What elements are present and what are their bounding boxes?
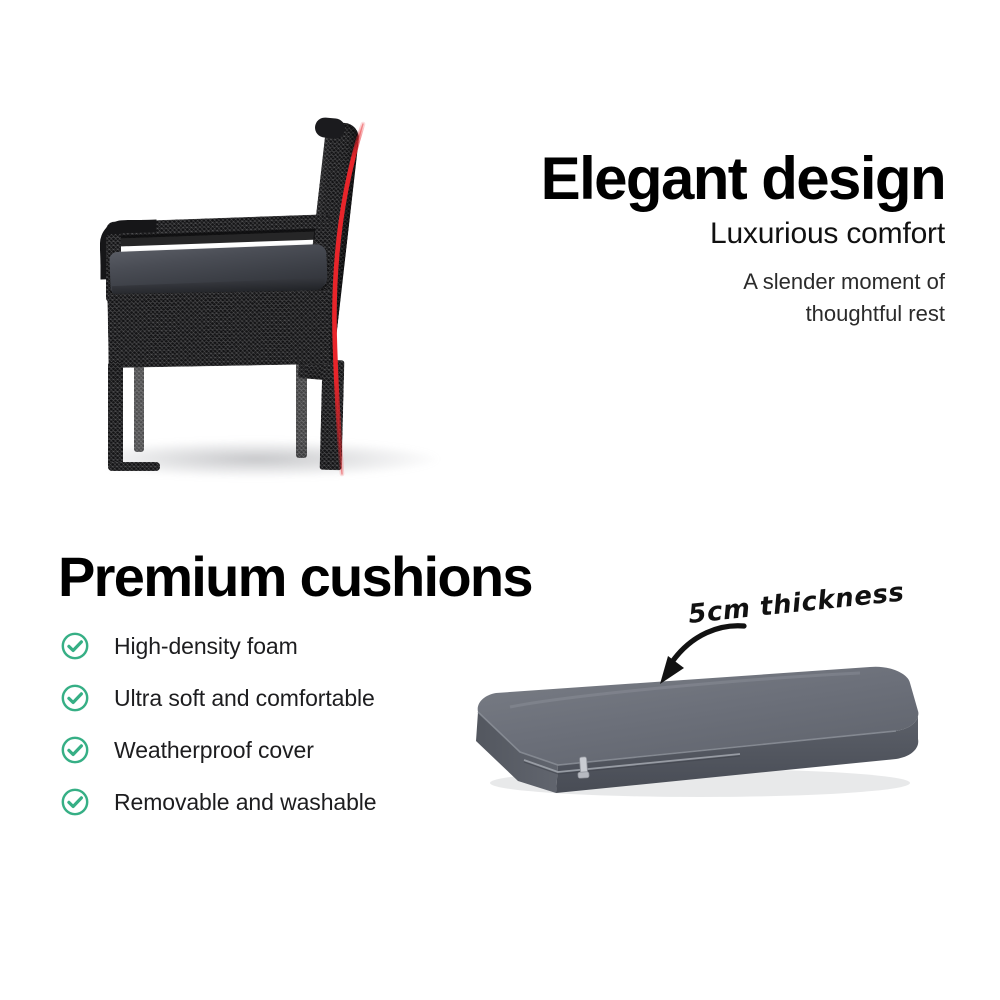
product-feature-graphic: Elegant design Luxurious comfort A slend… — [0, 0, 1000, 1000]
check-circle-icon — [60, 631, 90, 661]
thickness-annotation: 5cm thickness — [687, 577, 906, 630]
chair-floor-shadow — [108, 440, 438, 478]
list-item: Ultra soft and comfortable — [60, 672, 460, 724]
seat-cushion-image — [440, 655, 940, 815]
tagline: A slender moment of thoughtful rest — [425, 266, 945, 328]
page-title: Elegant design — [425, 148, 945, 210]
feature-list: High-density foam Ultra soft and comfort… — [60, 620, 460, 828]
check-circle-icon — [60, 683, 90, 713]
feature-label: Removable and washable — [114, 789, 376, 816]
elegant-design-copy-block: Elegant design Luxurious comfort A slend… — [425, 148, 945, 329]
list-item: Weatherproof cover — [60, 724, 460, 776]
section-title-premium-cushions: Premium cushions — [58, 549, 532, 605]
wicker-armchair-image — [90, 110, 480, 500]
feature-label: Ultra soft and comfortable — [114, 685, 375, 712]
feature-label: Weatherproof cover — [114, 737, 314, 764]
chair-rear-post — [320, 360, 345, 471]
chair-backrest-crest — [314, 117, 346, 140]
list-item: High-density foam — [60, 620, 460, 672]
check-circle-icon — [60, 787, 90, 817]
chair-front-leg — [108, 362, 123, 468]
tagline-line-1: A slender moment of — [743, 269, 945, 294]
chair-rear-inner-leg — [296, 362, 307, 458]
chair-mid-leg — [134, 360, 144, 452]
subtitle: Luxurious comfort — [425, 216, 945, 252]
chair-foot-rail — [108, 462, 160, 471]
check-circle-icon — [60, 735, 90, 765]
tagline-line-2: thoughtful rest — [806, 301, 945, 326]
chair-seat-frame — [107, 290, 330, 368]
list-item: Removable and washable — [60, 776, 460, 828]
feature-label: High-density foam — [114, 633, 298, 660]
